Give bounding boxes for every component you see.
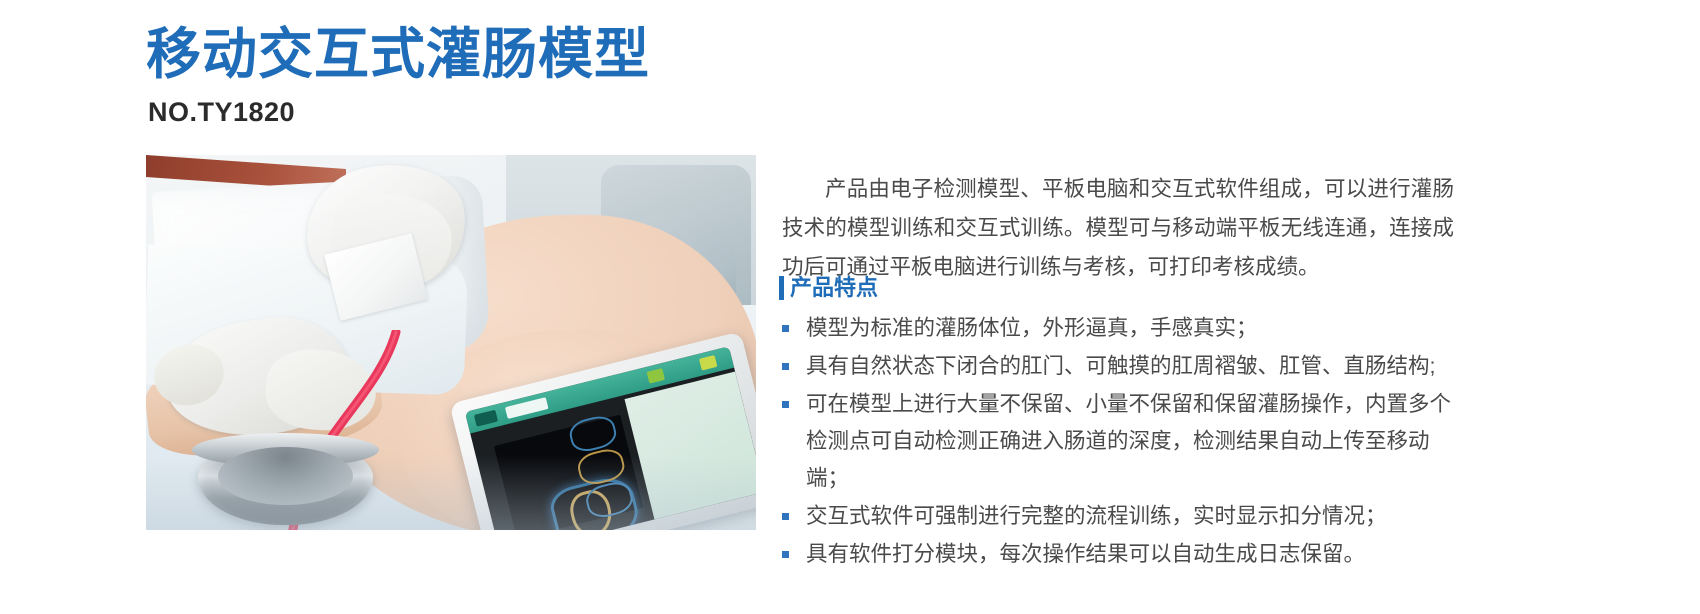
feature-text: 模型为标准的灌肠体位，外形逼真，手感真实； <box>806 316 1258 340</box>
feature-text: 交互式软件可强制进行完整的流程训练，实时显示扣分情况； <box>806 504 1387 528</box>
heading-accent-bar <box>779 276 784 300</box>
list-item: 可在模型上进行大量不保留、小量不保留和保留灌肠操作，内置多个检测点可自动检测正确… <box>780 386 1460 497</box>
feature-text: 可在模型上进行大量不保留、小量不保留和保留灌肠操作，内置多个检测点可自动检测正确… <box>806 392 1451 490</box>
features-heading-label: 产品特点 <box>790 276 878 300</box>
bullet-square-icon <box>782 513 789 520</box>
feature-text: 具有自然状态下闭合的肛门、可触摸的肛周褶皱、肛管、直肠结构; <box>806 354 1435 378</box>
feature-text: 具有软件打分模块，每次操作结果可以自动生成日志保留。 <box>806 542 1365 566</box>
photo-shadow-overlay <box>146 455 756 530</box>
product-photo <box>146 155 756 530</box>
features-list: 模型为标准的灌肠体位，外形逼真，手感真实； 具有自然状态下闭合的肛门、可触摸的肛… <box>780 310 1460 574</box>
product-model-code: NO.TY1820 <box>148 95 295 129</box>
page-title: 移动交互式灌肠模型 <box>146 22 650 86</box>
features-heading: 产品特点 <box>779 276 878 300</box>
list-item: 模型为标准的灌肠体位，外形逼真，手感真实； <box>780 310 1460 347</box>
bullet-square-icon <box>782 551 789 558</box>
bullet-square-icon <box>782 401 789 408</box>
product-page: 移动交互式灌肠模型 NO.TY1820 <box>0 0 1700 614</box>
list-item: 具有软件打分模块，每次操作结果可以自动生成日志保留。 <box>780 536 1460 573</box>
product-description: 产品由电子检测模型、平板电脑和交互式软件组成，可以进行灌肠技术的模型训练和交互式… <box>782 170 1454 287</box>
list-item: 具有自然状态下闭合的肛门、可触摸的肛周褶皱、肛管、直肠结构; <box>780 348 1460 385</box>
bullet-square-icon <box>782 325 789 332</box>
bullet-square-icon <box>782 363 789 370</box>
list-item: 交互式软件可强制进行完整的流程训练，实时显示扣分情况； <box>780 498 1460 535</box>
